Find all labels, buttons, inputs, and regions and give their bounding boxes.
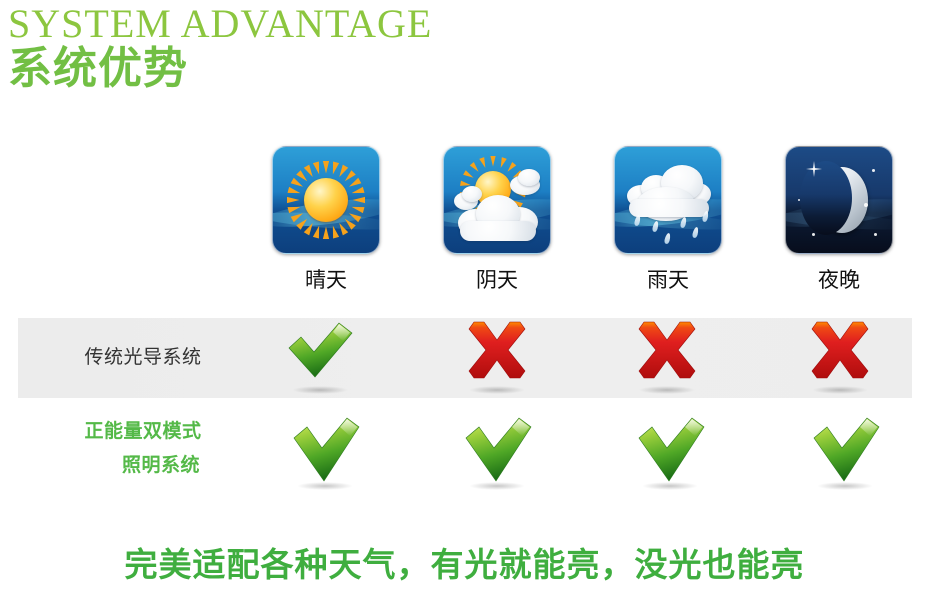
sun-glyph [298,172,354,228]
star-dot [798,199,800,201]
page-header: SYSTEM ADVANTAGE 系统优势 [8,2,432,94]
weather-column-cloudy: 阴天 [422,146,572,292]
rainy-icon [614,146,722,254]
mark-check [422,414,572,494]
mark-cross [765,318,915,398]
page-title-english: SYSTEM ADVANTAGE [8,2,432,46]
row-label-dualmode-line2: 照明系统 [18,448,268,482]
rain-drop [664,233,672,245]
mark-shadow [469,386,525,394]
mark-cross [422,318,572,398]
check-mark-icon [458,414,536,486]
row-label-traditional: 传统光导系统 [18,342,268,369]
mark-shadow [292,386,348,394]
star-dot [874,233,877,236]
cross-mark-icon [632,318,702,382]
mark-cross [592,318,742,398]
mark-check [770,414,920,494]
cross-mark-icon [805,318,875,382]
check-mark-icon [806,414,884,486]
check-mark-icon [281,318,359,382]
weather-column-rainy: 雨天 [593,146,743,292]
mark-shadow [812,386,868,394]
star-dot [864,203,868,207]
mark-shadow [639,386,695,394]
weather-label-cloudy: 阴天 [422,268,572,292]
night-icon [785,146,893,254]
star-dot [872,169,875,172]
mark-shadow [469,482,525,490]
mark-shadow [297,482,353,490]
page-title-chinese: 系统优势 [8,44,432,94]
mark-check [245,318,395,398]
weather-column-night: 夜晚 [764,146,914,292]
mark-shadow [642,482,698,490]
weather-column-sunny: 晴天 [251,146,401,292]
row-label-dualmode-line1: 正能量双模式 [84,420,201,442]
mark-check [250,414,400,494]
cloud-base [460,221,536,241]
cloud-puff [518,169,540,186]
check-mark-icon [631,414,709,486]
weather-label-rainy: 雨天 [593,268,743,292]
weather-label-night: 夜晚 [764,268,914,292]
table-row: 传统光导系统 [0,318,929,398]
weather-label-sunny: 晴天 [251,268,401,292]
sun-disc [304,178,348,222]
check-mark-icon [286,414,364,486]
cloudy-icon [443,146,551,254]
cross-mark-icon [462,318,532,382]
table-row: 正能量双模式 照明系统 [0,406,929,502]
sparkle-star-icon [806,161,822,177]
row-label-dualmode: 正能量双模式 照明系统 [18,414,268,482]
cloud-puff [462,186,482,202]
slide-root: SYSTEM ADVANTAGE 系统优势 [0,0,929,595]
footer-tagline: 完美适配各种天气，有光就能亮，没光也能亮 [0,538,929,586]
cloud-base [629,199,709,217]
crescent-moon-icon [816,167,868,233]
weather-condition-row: 晴天 [0,146,929,296]
mark-shadow [817,482,873,490]
mark-check [595,414,745,494]
sunny-icon [272,146,380,254]
star-dot [812,233,815,236]
